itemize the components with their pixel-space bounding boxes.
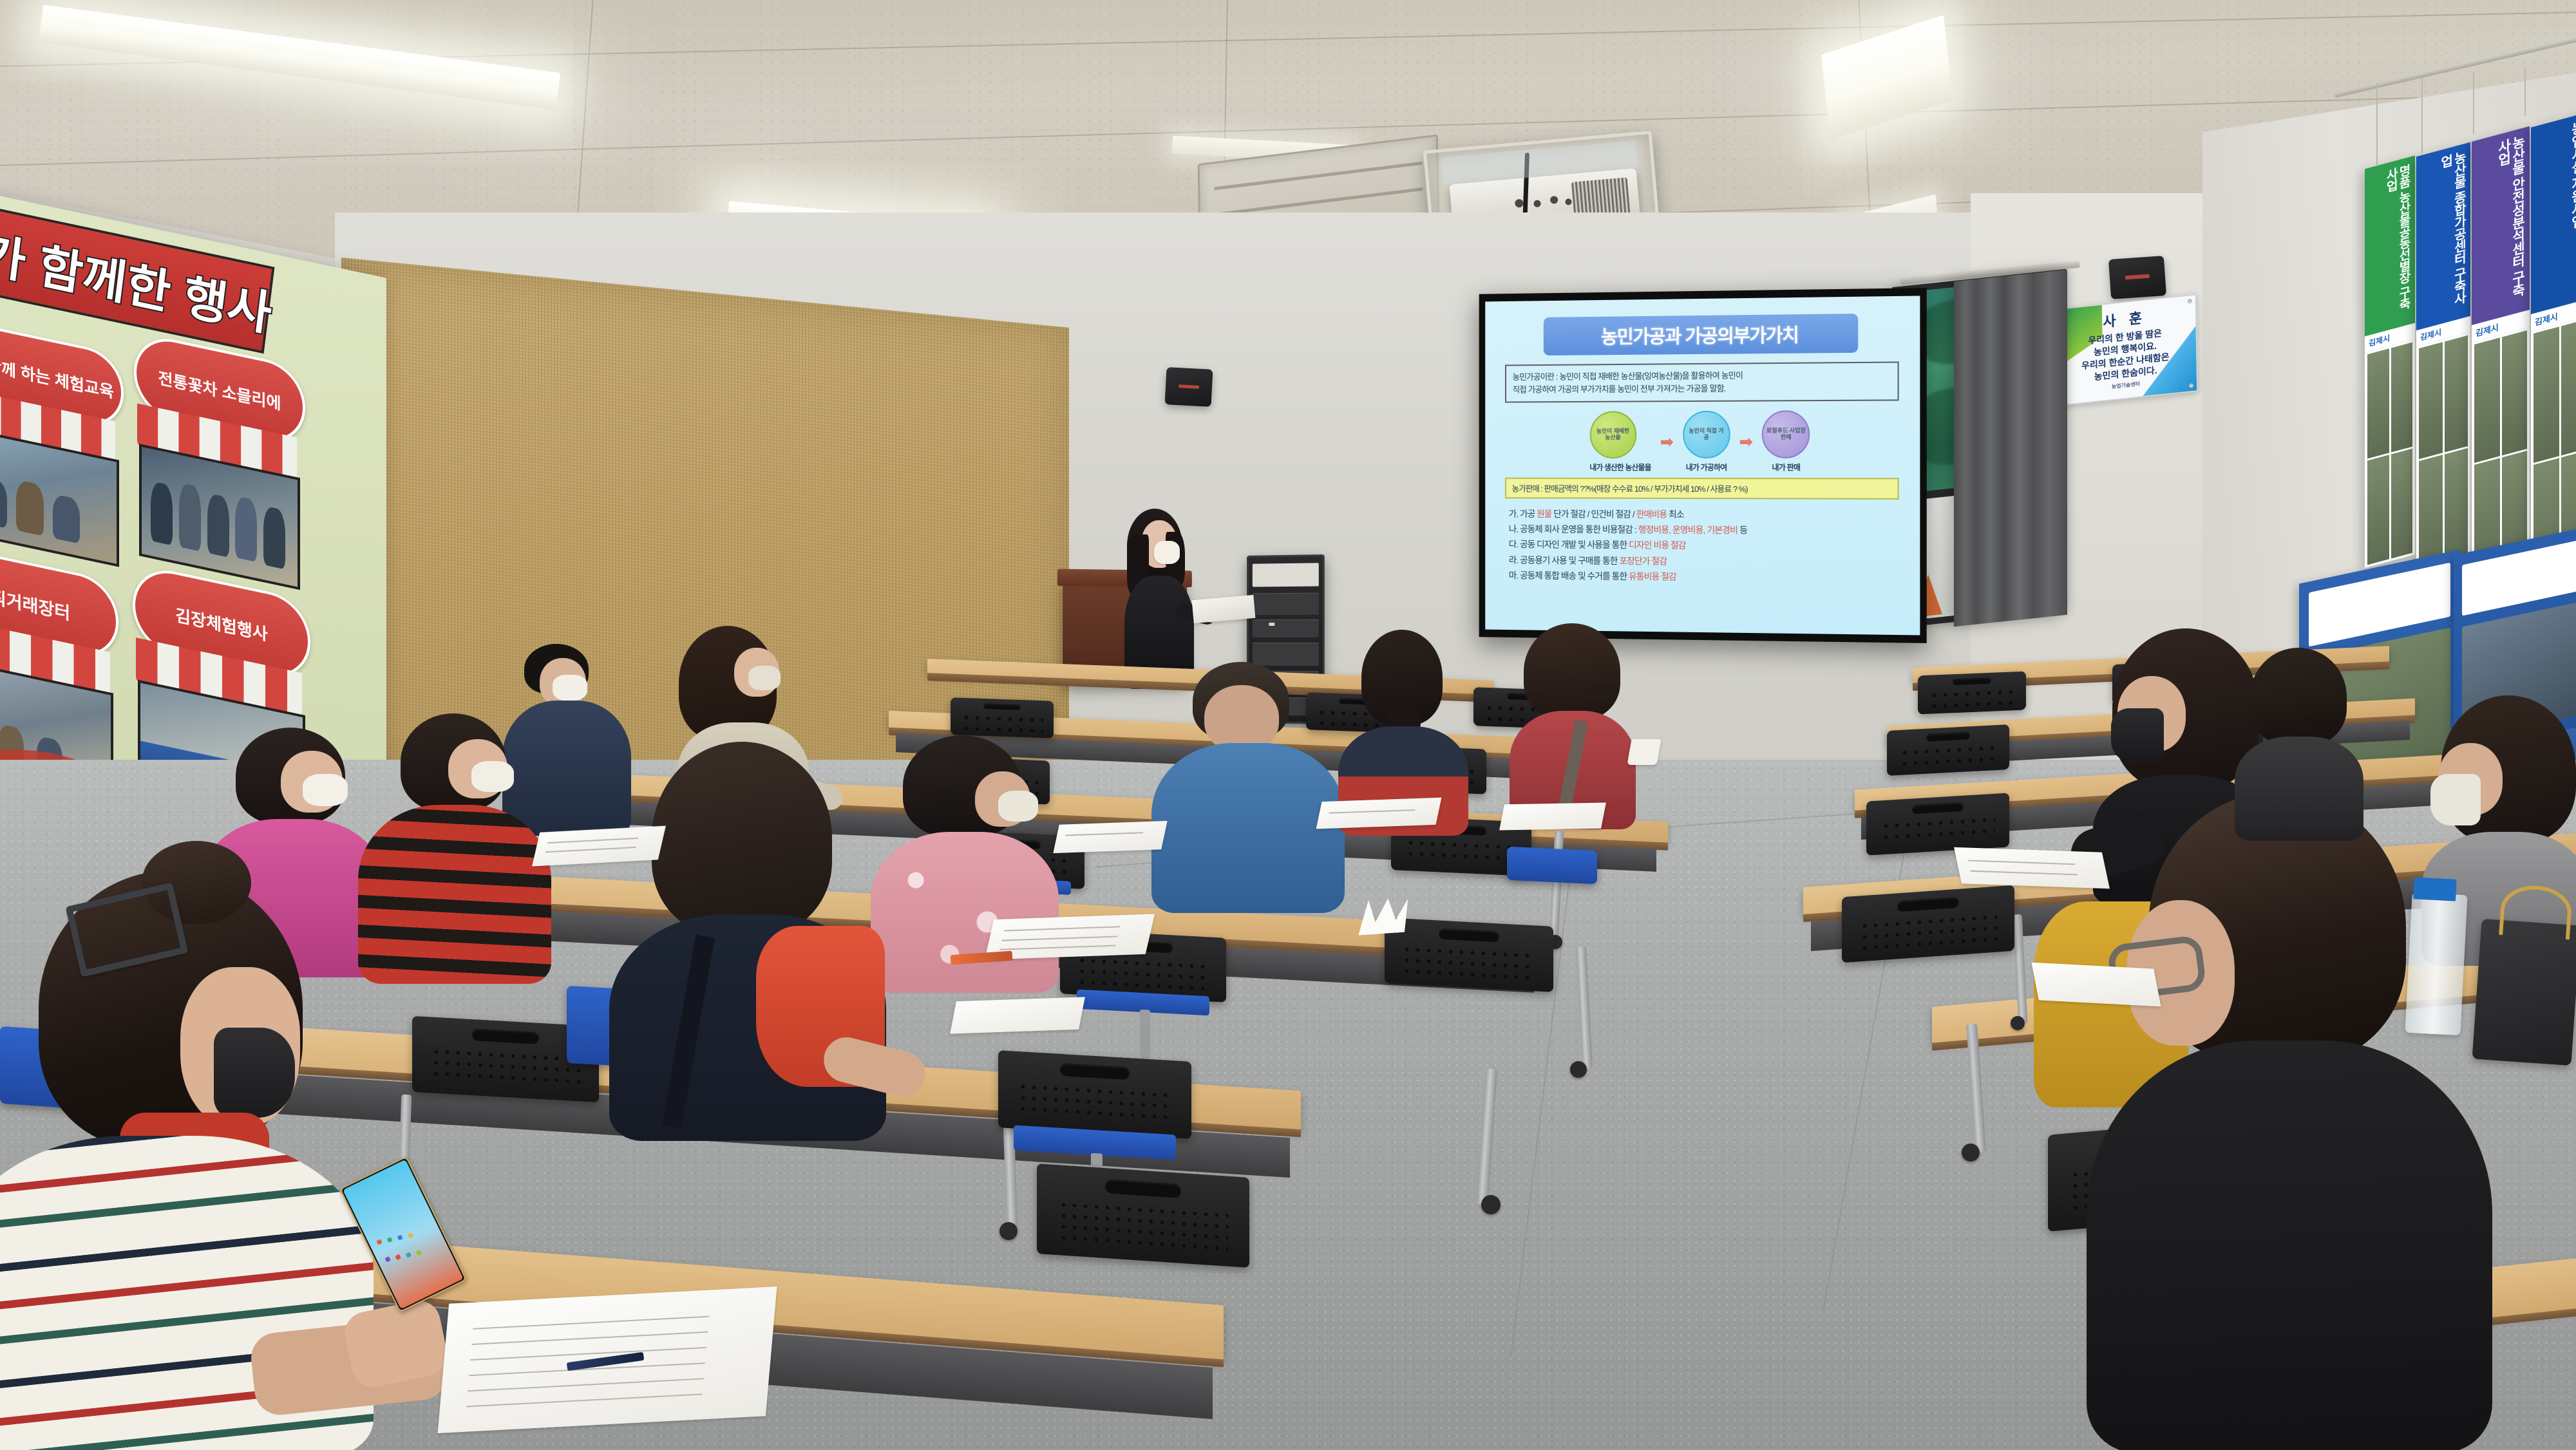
list-highlight: 유통비용 절감 [1629,571,1676,582]
presenter-face-mask [1154,541,1180,564]
slide-definition-line: 직접 가공하여 가공의 부가가치를 농민이 전부 가져가는 가공을 말함. [1513,381,1891,397]
attendee-face-mask [214,1028,295,1118]
flow-caption: 내가 가공하여 [1683,462,1730,473]
speaker-indicator [1179,384,1199,389]
banner-photo-grid [2416,332,2470,576]
list-index: 나. [1509,524,1518,534]
banner-title: 농업시설 지원사업 [2531,112,2576,314]
slide-definition: 농민가공이란 : 농민이 직접 재배한 농산물(잉여농산물)을 활용하여 농민이… [1505,361,1899,402]
desk-caster [1570,1061,1587,1078]
chair[interactable] [951,697,1054,739]
water-bottle[interactable] [2405,892,2467,1035]
slide-list-item: 다. 공동 디자인 개발 및 사용을 통한 디자인 비용 절감 [1509,537,1895,555]
flow-node: 농민이 재배한 농산물 내가 생산한 농산물을 [1589,411,1651,473]
flow-node: 로컬푸드 사업장 판매 내가 판매 [1762,411,1810,473]
list-text: 가공 [1520,509,1537,519]
wall-speaker [1165,367,1213,407]
flow-circle-label: 농민이 재배한 농산물 [1589,411,1636,459]
list-text: 단가 절감 / 인건비 절감 / [1551,509,1636,519]
right-banner-blue: 농산물 종합가공센터 구축사업 김제시 [2416,142,2470,576]
list-index: 다. [1509,540,1518,550]
handbag[interactable] [2472,919,2576,1066]
chair[interactable] [1507,847,1597,884]
wall-speaker [2108,256,2166,299]
attendee-hair [1524,623,1620,720]
projection-screen: 농민가공과 가공의부가가치 농민가공이란 : 농민이 직접 재배한 농산물(잉여… [1485,296,1920,635]
handout-paper[interactable] [1954,847,2110,889]
flow-node: 농민이 직접 가공 내가 가공하여 [1683,411,1730,473]
attendee-face-mask [748,666,781,690]
attendee-face-mask [553,675,587,701]
list-text: 공동체 통합 배송 및 수거를 통한 [1520,570,1629,581]
av-rack-led [1269,623,1275,626]
poster-shop-label: 직거래장터 [0,583,70,625]
attendee-face-mask [2111,708,2164,762]
list-text: 등 [1738,525,1747,536]
poster-shop-card: 전통꽃차 소믈리에 [134,331,300,589]
banner-photo-grid [2365,339,2415,569]
av-rack-unit [1253,619,1319,637]
slide-list-item: 가. 가공 원물 단가 절감 / 인건비 절감 / 판매비용 최소 [1509,506,1895,523]
paper-cup[interactable] [1627,739,1661,765]
attendee-woman-maroon [1506,623,1638,829]
list-highlight: 행정비용, 운영비용, 기본경비 [1638,525,1738,536]
blackout-curtain[interactable] [1954,270,2067,626]
attendee-body [2087,1040,2492,1450]
list-highlight: 판매비용 [1636,509,1667,520]
list-text: 공동용기 사용 및 구매를 통한 [1520,555,1619,566]
chair[interactable] [998,1050,1191,1139]
flow-circle-label: 농민이 직접 가공 [1683,411,1730,458]
right-banner-green: 명품 농산물공동선별장 구축사업 김제시 [2365,156,2415,569]
attendee-hair [652,742,832,935]
handout-paper[interactable] [950,997,1085,1033]
list-highlight: 포장단가 절감 [1619,556,1667,566]
attendee-face-mask [471,761,514,792]
slide-list-item: 마. 공동체 통합 배송 및 수거를 통한 유통비용 절감 [1509,567,1895,586]
attendee-hair [2250,648,2347,746]
list-index: 라. [1509,554,1518,565]
desk-caster [1962,1144,1980,1162]
banner-wire [2524,67,2526,116]
water-bottle-cap[interactable] [2413,877,2457,901]
attendee-body [871,832,1059,993]
attendee-face-mask [2430,774,2481,825]
right-banner-blue2: 농업시설 지원사업 김제시 [2531,112,2576,598]
speaker-indicator [2125,274,2150,280]
slide-title: 농민가공과 가공의부가가치 [1543,314,1858,355]
list-highlight: 디자인 비용 절감 [1629,540,1686,551]
flow-circle-label: 로컬푸드 사업장 판매 [1762,411,1810,459]
banner-wire [2376,82,2378,165]
chair[interactable] [1385,918,1553,992]
banner-title: 명품 농산물공동선별장 구축사업 [2365,156,2415,337]
poster-shop-label: 전통꽃차 소믈리에 [158,365,281,415]
banner-title: 농산물 안전성분석센터 구축사업 [2472,126,2530,325]
attendee-face-mask [303,774,348,806]
list-text: 공동 디자인 개발 및 사용을 통한 [1520,540,1629,551]
poster-shop-card: 와 함께 하는 체험교육 [0,319,118,566]
flow-arrow-icon: ➡ [1739,432,1753,452]
flow-caption: 내가 판매 [1762,462,1810,473]
attendee-man-blue-polo [1151,662,1345,913]
desk-caster [1481,1195,1501,1214]
chair[interactable] [1918,671,2026,714]
projection-screen-shell: 농민가공과 가공의부가가치 농민가공이란 : 농민이 직접 재배한 농산물(잉여… [1479,288,1927,643]
attendee-man-navy-redshoulder [609,742,886,1141]
right-banner-purple: 농산물 안전성분석센터 구축사업 김제시 [2472,126,2530,586]
handout-paper[interactable] [1053,821,1167,853]
list-text: 최소 [1667,509,1684,520]
flow-arrow-icon: ➡ [1660,432,1674,452]
attendee-right-back-row [2235,648,2363,841]
chair[interactable] [1037,1163,1249,1268]
slide-note: 농가판매 : 판매금액의 ??%(매장 수수료 10% / 부가가치세 10% … [1505,478,1899,500]
chair[interactable] [1887,724,2009,776]
av-rack-unit [1253,593,1319,615]
desk-caster [999,1222,1018,1240]
classroom-photo-scene: 가 함께한 행사 와 함께 하는 체험교육 전통꽃차 소믈리에 [0,0,2576,1450]
banner-title: 농산물 종합가공센터 구축사업 [2416,142,2470,331]
av-rack-panel [1253,563,1319,587]
poster-shop-label: 와 함께 하는 체험교육 [0,349,114,403]
list-index: 마. [1509,570,1518,580]
handout-paper[interactable] [532,826,666,867]
attendee-head [1204,685,1279,752]
slide-flow-diagram: 농민이 재배한 농산물 내가 생산한 농산물을 ➡ 농민이 직접 가공 내가 가… [1500,410,1904,473]
handout-paper[interactable] [1316,798,1442,829]
list-highlight: 원물 [1537,509,1551,519]
attendee-face-mask [998,791,1038,822]
chair[interactable] [1842,885,2014,963]
chair[interactable] [1866,793,2009,855]
slide-content: 농민가공과 가공의부가가치 농민가공이란 : 농민이 직접 재배한 농산물(잉여… [1485,296,1920,635]
handout-paper[interactable] [1499,803,1606,831]
poster-shop-label: 김장체험행사 [175,602,268,646]
attendee-body [2235,737,2363,841]
attendee-front-woman-phone [0,871,509,1450]
desk-caster [2011,1016,2025,1030]
motto-sign: 사 훈 우리의 한 방울 땀은 농민의 행복이요. 우리의 한순간 나태함은 농… [2052,294,2199,406]
banner-wire [2473,72,2474,134]
banner-wire [2421,77,2423,153]
slide-list: 가. 가공 원물 단가 절감 / 인건비 절감 / 판매비용 최소 나. 공동체… [1509,506,1895,586]
list-index: 가. [1509,509,1518,519]
handout-paper[interactable] [2031,963,2161,1007]
flow-caption: 내가 생산한 농산물을 [1589,462,1651,473]
slide-list-item: 나. 공동체 회사 운영을 통한 비용절감 : 행정비용, 운영비용, 기본경비… [1509,522,1895,539]
list-text: 공동체 회사 운영을 통한 비용절감 : [1520,524,1638,535]
